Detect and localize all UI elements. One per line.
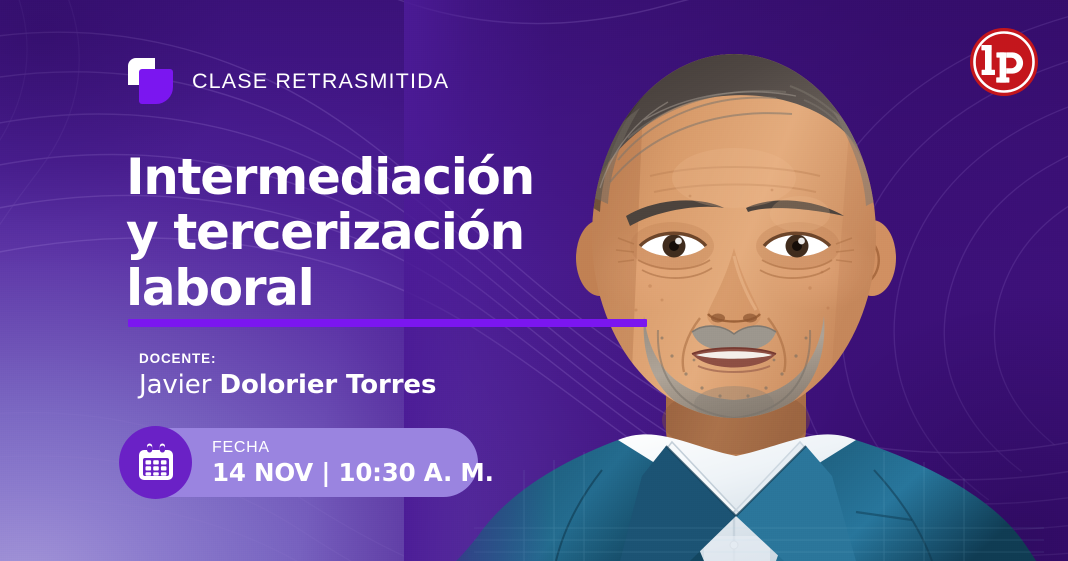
title-line-3: laboral: [126, 261, 646, 317]
calendar-icon: [119, 426, 192, 499]
kicker-label: CLASE RETRASMITIDA: [192, 69, 449, 94]
date-label: FECHA: [212, 440, 494, 456]
instructor-first-name: Javier: [139, 370, 219, 400]
date-badge[interactable]: FECHA 14 NOV | 10:30 A. M.: [119, 428, 478, 497]
instructor-name: Javier Dolorier Torres: [139, 370, 436, 401]
date-value: 14 NOV | 10:30 A. M.: [212, 460, 494, 485]
page-title: Intermediación y tercerización laboral: [126, 150, 646, 317]
kicker-row: CLASE RETRASMITIDA: [128, 58, 449, 105]
title-line-1: Intermediación: [126, 150, 646, 206]
instructor-block: DOCENTE: Javier Dolorier Torres: [139, 352, 436, 401]
title-line-2: y tercerización: [126, 205, 646, 261]
accent-divider: [128, 319, 647, 327]
lp-logo[interactable]: [968, 26, 1040, 98]
content-column: CLASE RETRASMITIDA Intermediación y terc…: [0, 0, 660, 561]
instructor-last-name: Dolorier Torres: [219, 370, 436, 400]
instructor-label: DOCENTE:: [139, 352, 436, 367]
brand-d-mark-icon: [128, 58, 175, 105]
promo-banner: CLASE RETRASMITIDA Intermediación y terc…: [0, 0, 1068, 561]
date-text-group: FECHA 14 NOV | 10:30 A. M.: [212, 440, 494, 484]
